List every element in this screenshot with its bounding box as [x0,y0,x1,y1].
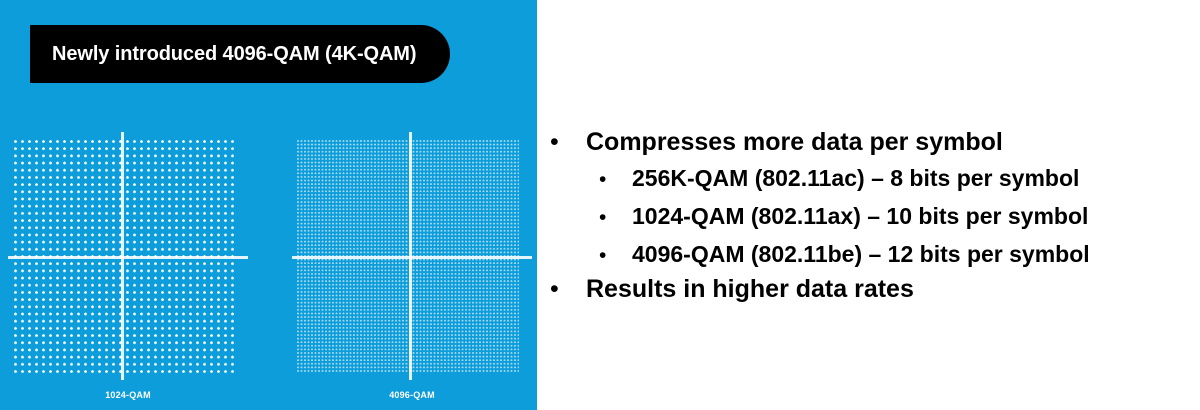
bullet-marker-icon: • [599,206,632,230]
constellation-diagram-4096qam: 4096-QAM [292,132,532,380]
constellation-plot-area [8,132,248,380]
bullet-marker-icon: • [599,168,632,192]
inphase-axis [292,256,532,259]
bullet-item: • 256K-QAM (802.11ac) – 8 bits per symbo… [599,165,1079,192]
bullet-item: • 1024-QAM (802.11ax) – 10 bits per symb… [599,203,1088,230]
bullet-marker-icon: • [550,128,586,157]
slide-body-text-panel: • Compresses more data per symbol • 256K… [537,0,1200,410]
bullet-item: • Compresses more data per symbol [550,128,1003,157]
bullet-item: • Results in higher data rates [550,275,914,304]
bullet-marker-icon: • [550,275,586,304]
bullet-marker-icon: • [599,244,632,268]
bullet-label: 1024-QAM (802.11ax) – 10 bits per symbol [632,203,1088,230]
constellation-diagram-1024qam: 1024-QAM [8,132,248,380]
bullet-label: Compresses more data per symbol [586,128,1003,157]
inphase-axis [8,256,248,259]
bullet-label: Results in higher data rates [586,275,914,304]
bullet-label: 4096-QAM (802.11be) – 12 bits per symbol [632,241,1090,268]
constellation-label: 4096-QAM [292,390,532,400]
bullet-label: 256K-QAM (802.11ac) – 8 bits per symbol [632,165,1079,192]
bullet-item: • 4096-QAM (802.11be) – 12 bits per symb… [599,241,1090,268]
slide-title-banner: Newly introduced 4096-QAM (4K-QAM) [30,25,450,83]
constellation-plot-area [292,132,532,380]
page-title: Newly introduced 4096-QAM (4K-QAM) [52,43,416,66]
constellation-label: 1024-QAM [8,390,248,400]
slide-visual-panel: Newly introduced 4096-QAM (4K-QAM) 1024-… [0,0,537,410]
